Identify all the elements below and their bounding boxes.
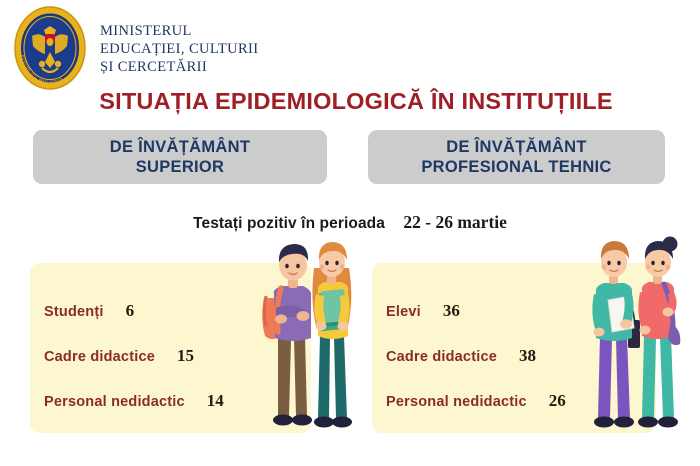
stat-label: Cadre didactice <box>386 349 497 365</box>
category-box-profesional-tehnic[interactable]: DE ÎNVĂȚĂMÂNT PROFESIONAL TEHNIC <box>368 130 665 184</box>
stat-value: 36 <box>443 301 460 321</box>
stat-label: Elevi <box>386 304 421 320</box>
stat-card-superior: Studenți 6 Cadre didactice 15 Personal n… <box>30 263 311 433</box>
stat-rows-superior: Studenți 6 Cadre didactice 15 Personal n… <box>44 301 325 436</box>
stat-rows-profesional-tehnic: Elevi 36 Cadre didactice 38 Personal ned… <box>386 301 670 436</box>
ministry-line-1: MINISTERUL <box>100 22 259 40</box>
stat-value: 15 <box>177 346 194 366</box>
page-title: SITUAȚIA EPIDEMIOLOGICĂ ÎN INSTITUȚIILE <box>0 88 700 115</box>
ministry-line-3: ȘI CERCETĂRII <box>100 58 259 76</box>
category-left-line-1: DE ÎNVĂȚĂMÂNT <box>110 137 250 157</box>
stat-label: Personal nedidactic <box>386 394 527 410</box>
stat-value: 14 <box>207 391 224 411</box>
category-right-line-2: PROFESIONAL TEHNIC <box>421 157 611 177</box>
stat-row: Studenți 6 <box>44 301 325 321</box>
period-label: Testați pozitiv în perioada <box>193 215 385 232</box>
stat-row: Personal nedidactic 26 <box>386 391 670 411</box>
stat-value: 38 <box>519 346 536 366</box>
stat-label: Studenți <box>44 304 104 320</box>
stat-row: Elevi 36 <box>386 301 670 321</box>
stat-row: Cadre didactice 15 <box>44 346 325 366</box>
category-box-superior[interactable]: DE ÎNVĂȚĂMÂNT SUPERIOR <box>33 130 327 184</box>
ministry-line-2: EDUCAȚIEI, CULTURII <box>100 40 259 58</box>
stat-row: Cadre didactice 38 <box>386 346 670 366</box>
stat-label: Personal nedidactic <box>44 394 185 410</box>
category-right-line-1: DE ÎNVĂȚĂMÂNT <box>421 137 611 157</box>
header: GUVERNUL REPUBLICII MOLDOVA <box>0 0 700 90</box>
moldova-government-coat-of-arms-icon: GUVERNUL REPUBLICII MOLDOVA <box>12 6 88 90</box>
infographic-page: GUVERNUL REPUBLICII MOLDOVA <box>0 0 700 466</box>
period-line: Testați pozitiv în perioada 22 - 26 mart… <box>0 212 700 233</box>
stat-value: 6 <box>126 301 135 321</box>
stat-value: 26 <box>549 391 566 411</box>
ministry-name: MINISTERUL EDUCAȚIEI, CULTURII ȘI CERCET… <box>100 22 259 76</box>
stat-label: Cadre didactice <box>44 349 155 365</box>
stat-card-profesional-tehnic: Elevi 36 Cadre didactice 38 Personal ned… <box>372 263 656 433</box>
category-left-line-2: SUPERIOR <box>110 157 250 177</box>
stat-row: Personal nedidactic 14 <box>44 391 325 411</box>
period-dates: 22 - 26 martie <box>403 212 507 232</box>
